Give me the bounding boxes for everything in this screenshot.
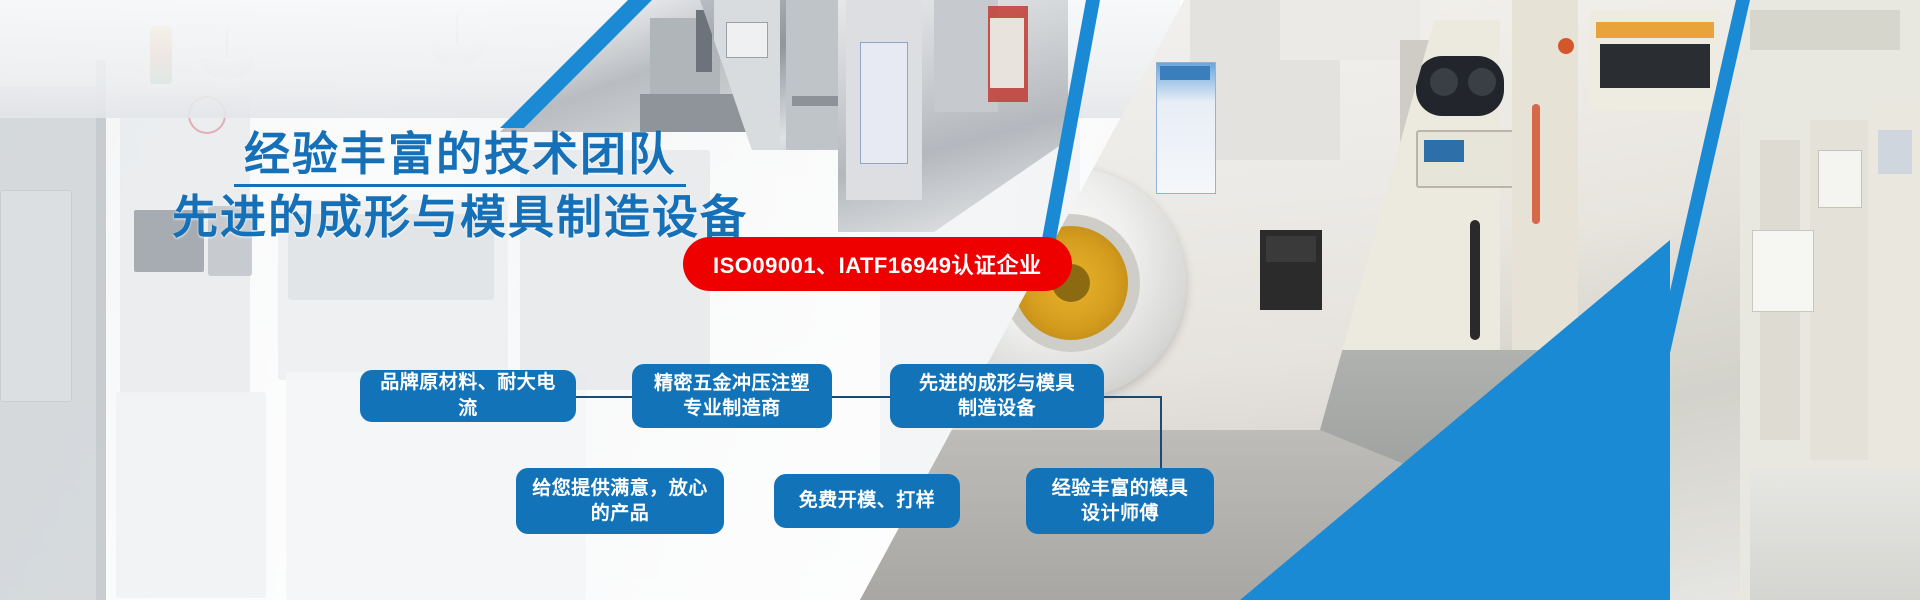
flow-box-precision-maker-line1: 精密五金冲压注塑 [654,371,810,396]
flow-box-brand-material-label: 品牌原材料、耐大电流 [374,370,562,422]
flow-box-advanced-equipment-line2: 制造设备 [958,396,1036,421]
flow-box-precision-maker[interactable]: 精密五金冲压注塑 专业制造商 [632,364,832,428]
connector-3-right [1104,396,1162,398]
flow-box-mold-designer[interactable]: 经验丰富的模具 设计师傅 [1026,468,1214,534]
certification-badge: ISO09001、IATF16949认证企业 [683,237,1072,291]
flow-box-free-mold[interactable]: 免费开模、打样 [774,474,960,528]
flow-box-free-mold-label: 免费开模、打样 [799,488,936,514]
flow-box-precision-maker-line2: 专业制造商 [683,396,781,421]
flow-box-satisfying-product[interactable]: 给您提供满意，放心 的产品 [516,468,724,534]
flow-box-mold-designer-line1: 经验丰富的模具 [1052,476,1189,501]
flow-box-satisfying-product-line2: 的产品 [591,501,650,526]
connector-2-3 [832,396,890,398]
feature-flowchart: 品牌原材料、耐大电流 精密五金冲压注塑 专业制造商 先进的成形与模具 制造设备 … [0,0,1920,600]
flow-box-advanced-equipment[interactable]: 先进的成形与模具 制造设备 [890,364,1104,428]
flow-box-advanced-equipment-line1: 先进的成形与模具 [919,371,1075,396]
flow-box-satisfying-product-line1: 给您提供满意，放心 [532,476,708,501]
flow-box-brand-material[interactable]: 品牌原材料、耐大电流 [360,370,576,422]
promo-banner: 经验丰富的技术团队 先进的成形与模具制造设备 ISO09001、IATF1694… [0,0,1920,600]
connector-1-2 [576,396,632,398]
certification-badge-label: ISO09001、IATF16949认证企业 [713,248,1042,280]
flow-box-mold-designer-line2: 设计师傅 [1081,501,1159,526]
